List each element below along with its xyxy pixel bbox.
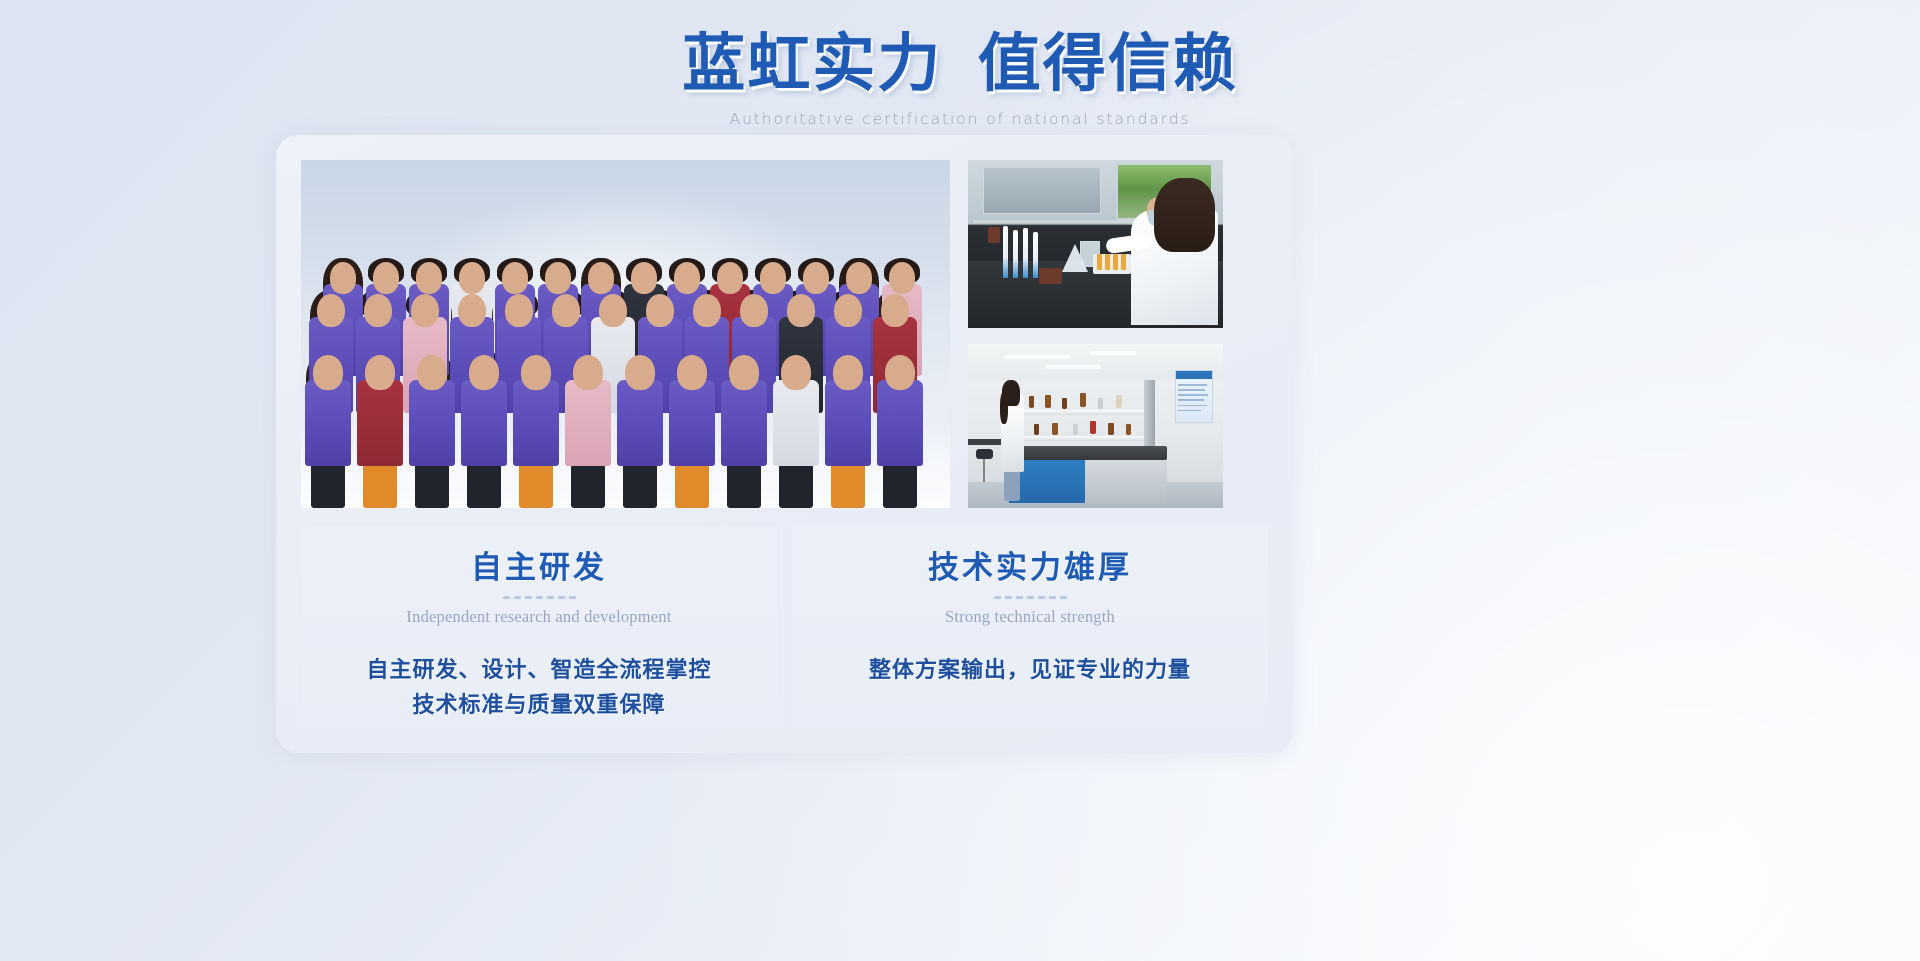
team-member-head [505,294,533,327]
team-member-uniform [305,380,351,466]
team-member-head [885,355,914,390]
gallery-row [301,160,1268,508]
divider-dots [792,596,1268,599]
lab-photo-column [968,160,1223,508]
team-member-head [846,262,872,294]
team-member-head [631,262,657,294]
feature-card-subtitle: Independent research and development [301,607,777,627]
lab2-stool-leg [983,459,985,482]
team-member-head [469,355,498,390]
team-member-head [674,262,700,294]
feature-cards-row: 自主研发 Independent research and developmen… [301,527,1268,728]
team-member-head [373,262,399,294]
team-member-uniform [461,380,507,466]
team-member-head [803,262,829,294]
team-member-head [417,355,446,390]
team-member-legs [311,466,345,508]
team-member-legs [883,466,917,508]
team-member-legs [675,466,709,508]
team-member-head [781,355,810,390]
team-member-head [677,355,706,390]
team-member-head [411,294,439,327]
team-member-head [740,294,768,327]
team-member-head [760,262,786,294]
team-member-head [458,294,486,327]
team-member-head [459,262,485,294]
team-member-head [365,355,394,390]
lab2-grey-cabinet [1085,460,1167,503]
feature-card-technical-strength: 技术实力雄厚 Strong technical strength 整体方案输出，… [792,527,1268,728]
feature-card-title: 技术实力雄厚 [792,549,1268,586]
team-member-head [599,294,627,327]
laboratory-technician-photo [968,160,1223,328]
lab1-tube-tray [1093,254,1131,274]
lab1-reagent-bottle [1050,268,1062,284]
feature-card-body: 自主研发、设计、智造全流程掌控 技术标准与质量双重保障 [301,653,777,723]
team-member-head [313,355,342,390]
team-member-uniform [617,380,663,466]
team-member-head [545,262,571,294]
team-member-uniform [357,380,403,466]
feature-card-subtitle: Strong technical strength [792,607,1268,627]
team-member-head [693,294,721,327]
team-member-head [646,294,674,327]
lab1-technician-hair [1154,178,1215,252]
feature-card-title: 自主研发 [301,549,777,586]
lab1-inner-window [983,167,1100,214]
team-member-legs [779,466,813,508]
team-member-head [416,262,442,294]
team-member-head [787,294,815,327]
team-member-head [364,294,392,327]
lab2-reagent-shelf [1014,410,1147,415]
team-member-head [317,294,345,327]
team-member-head [521,355,550,390]
team-member-legs [623,466,657,508]
team-member-head [729,355,758,390]
team-member-legs [467,466,501,508]
lab2-island-bench-top [1009,446,1167,461]
team-member-uniform [513,380,559,466]
divider-dots [301,596,777,599]
content-panel: 自主研发 Independent research and developmen… [276,135,1293,753]
team-member-head [834,294,862,327]
lab2-wall-poster [1175,370,1213,422]
team-member-uniform [409,380,455,466]
lab1-reagent-bottle [988,227,1000,243]
team-member-uniform [565,380,611,466]
team-member-head [502,262,528,294]
team-member-legs [727,466,761,508]
team-member-uniform [877,380,923,466]
team-member-head [552,294,580,327]
lab2-technician-hair [1002,380,1020,406]
team-member-head [588,262,614,294]
team-member-uniform [773,380,819,466]
team-member-legs [363,466,397,508]
team-member-legs [415,466,449,508]
lab2-stool [976,449,994,459]
team-member-legs [571,466,605,508]
page-title: 蓝虹实力 值得信赖 [0,28,1920,100]
team-member-head [833,355,862,390]
company-team-group-photo [301,160,950,508]
page-header: 蓝虹实力 值得信赖 Authoritative certification of… [0,0,1920,128]
lab2-reagent-shelf [1014,436,1147,441]
team-member-head [573,355,602,390]
laboratory-room-photo [968,344,1223,508]
team-member-head [881,294,909,327]
team-member-legs [831,466,865,508]
lab2-technician-legs [1004,472,1021,502]
team-member-head [717,262,743,294]
page-subtitle: Authoritative certification of national … [0,110,1920,128]
feature-card-independent-rd: 自主研发 Independent research and developmen… [301,527,777,728]
team-member-uniform [669,380,715,466]
team-member-uniform [721,380,767,466]
team-member-head [330,262,356,294]
team-member-head [625,355,654,390]
team-member-head [889,262,915,294]
feature-card-body: 整体方案输出，见证专业的力量 [792,653,1268,688]
team-member-uniform [825,380,871,466]
team-member-legs [519,466,553,508]
